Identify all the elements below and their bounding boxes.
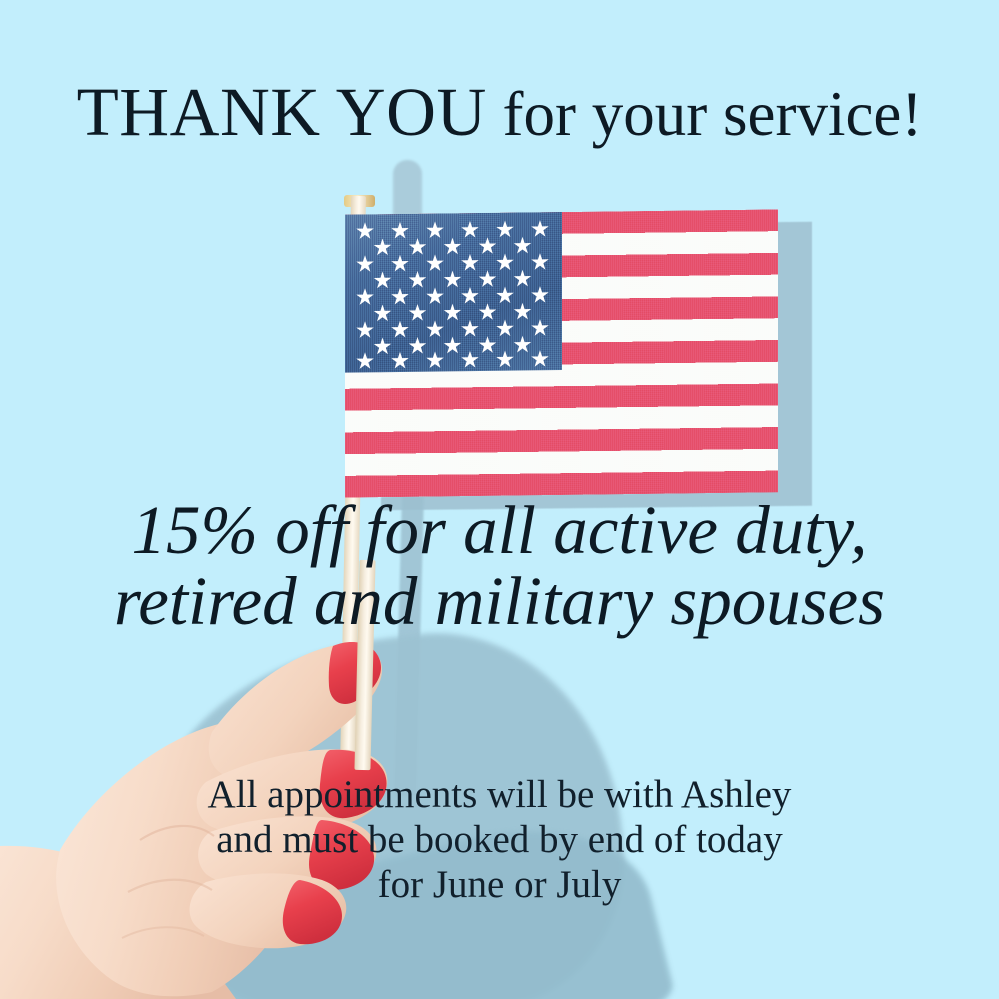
- fineprint-line-3: for June or July: [0, 862, 999, 907]
- headline: THANK YOU for your service!: [0, 78, 999, 147]
- offer-text: 15% off for all active duty, retired and…: [0, 495, 999, 637]
- fineprint-line-1: All appointments will be with Ashley: [0, 772, 999, 817]
- fineprint-line-2: and must be booked by end of today: [0, 817, 999, 862]
- headline-caps: THANK YOU: [77, 74, 487, 150]
- headline-rest: for your service!: [487, 79, 923, 149]
- offer-line-2: retired and military spouses: [0, 566, 999, 637]
- promo-poster: THANK YOU for your service! 15% off for …: [0, 0, 999, 999]
- american-flag: [345, 209, 778, 497]
- fineprint-text: All appointments will be with Ashley and…: [0, 772, 999, 908]
- flag-stars: [345, 212, 562, 373]
- offer-line-1: 15% off for all active duty,: [0, 495, 999, 566]
- flag-canton: [345, 212, 562, 373]
